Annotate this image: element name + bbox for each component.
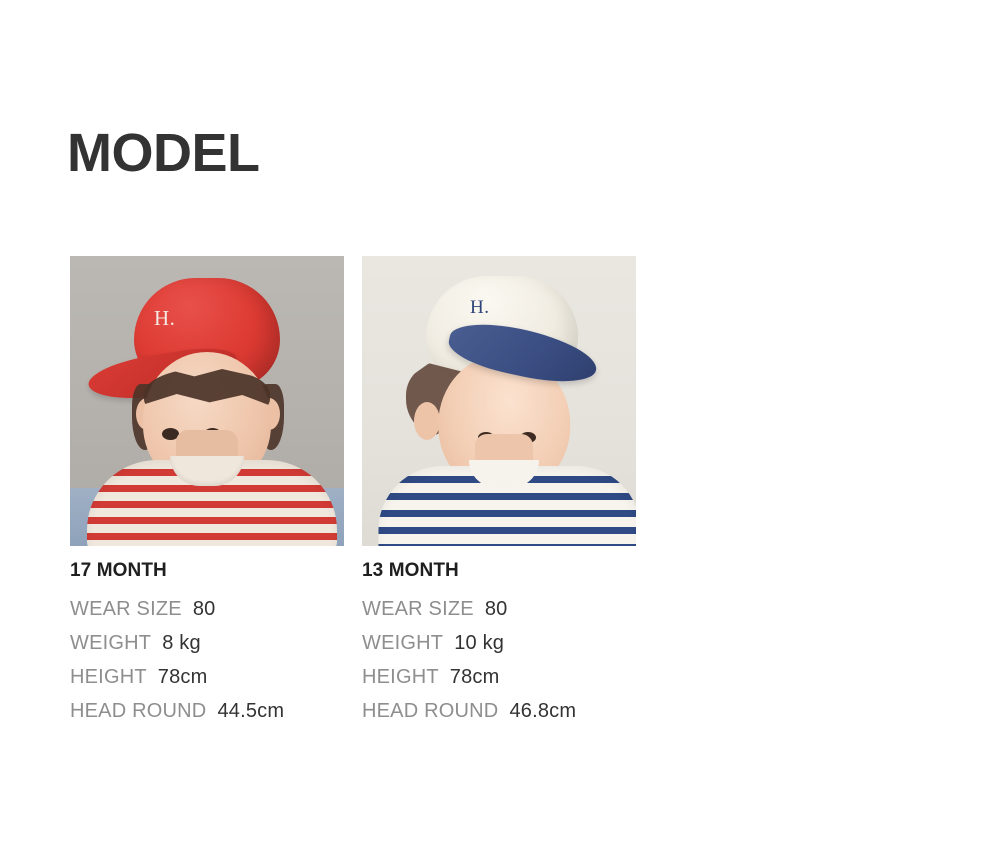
model-photo-cream-cap: H. — [362, 256, 636, 546]
cap-logo: H. — [470, 298, 489, 317]
spec-label: HEAD ROUND — [70, 694, 206, 728]
model-age-title: 13 MONTH — [362, 558, 636, 584]
spec-label: WEAR SIZE — [362, 592, 474, 626]
spec-label: HEAD ROUND — [362, 694, 498, 728]
spec-value: 80 — [485, 592, 508, 626]
spec-value: 10 kg — [454, 626, 504, 660]
spec-value: 78cm — [450, 660, 500, 694]
spec-row-weight: WEIGHT 10 kg — [362, 626, 636, 660]
spec-row-weight: WEIGHT 8 kg — [70, 626, 344, 660]
model-spec-list: 13 MONTH WEAR SIZE 80 WEIGHT 10 kg HEIGH… — [362, 558, 636, 728]
spec-label: WEAR SIZE — [70, 592, 182, 626]
spec-row-head-round: HEAD ROUND 46.8cm — [362, 694, 636, 728]
spec-label: WEIGHT — [362, 626, 443, 660]
spec-value: 80 — [193, 592, 216, 626]
spec-value: 8 kg — [162, 626, 201, 660]
model-grid: H. 17 MONTH WEAR SIZE 80 — [70, 256, 636, 728]
spec-label: HEIGHT — [70, 660, 147, 694]
spec-label: WEIGHT — [70, 626, 151, 660]
spec-row-height: HEIGHT 78cm — [362, 660, 636, 694]
spec-value: 78cm — [158, 660, 208, 694]
model-spec-list: 17 MONTH WEAR SIZE 80 WEIGHT 8 kg HEIGHT… — [70, 558, 344, 728]
spec-value: 46.8cm — [509, 694, 576, 728]
model-photo-red-cap: H. — [70, 256, 344, 546]
spec-row-height: HEIGHT 78cm — [70, 660, 344, 694]
model-card: H. 17 MONTH WEAR SIZE 80 — [70, 256, 344, 728]
spec-label: HEIGHT — [362, 660, 439, 694]
page-title: MODEL — [67, 122, 260, 184]
model-age-title: 17 MONTH — [70, 558, 344, 584]
spec-row-wear-size: WEAR SIZE 80 — [362, 592, 636, 626]
model-card: H. 13 MONTH WEAR SIZE 80 — [362, 256, 636, 728]
cap-logo: H. — [154, 308, 175, 329]
spec-row-wear-size: WEAR SIZE 80 — [70, 592, 344, 626]
spec-row-head-round: HEAD ROUND 44.5cm — [70, 694, 344, 728]
spec-value: 44.5cm — [217, 694, 284, 728]
ear-left — [414, 402, 440, 440]
model-section-page: MODEL H. 17 — [0, 0, 1000, 864]
